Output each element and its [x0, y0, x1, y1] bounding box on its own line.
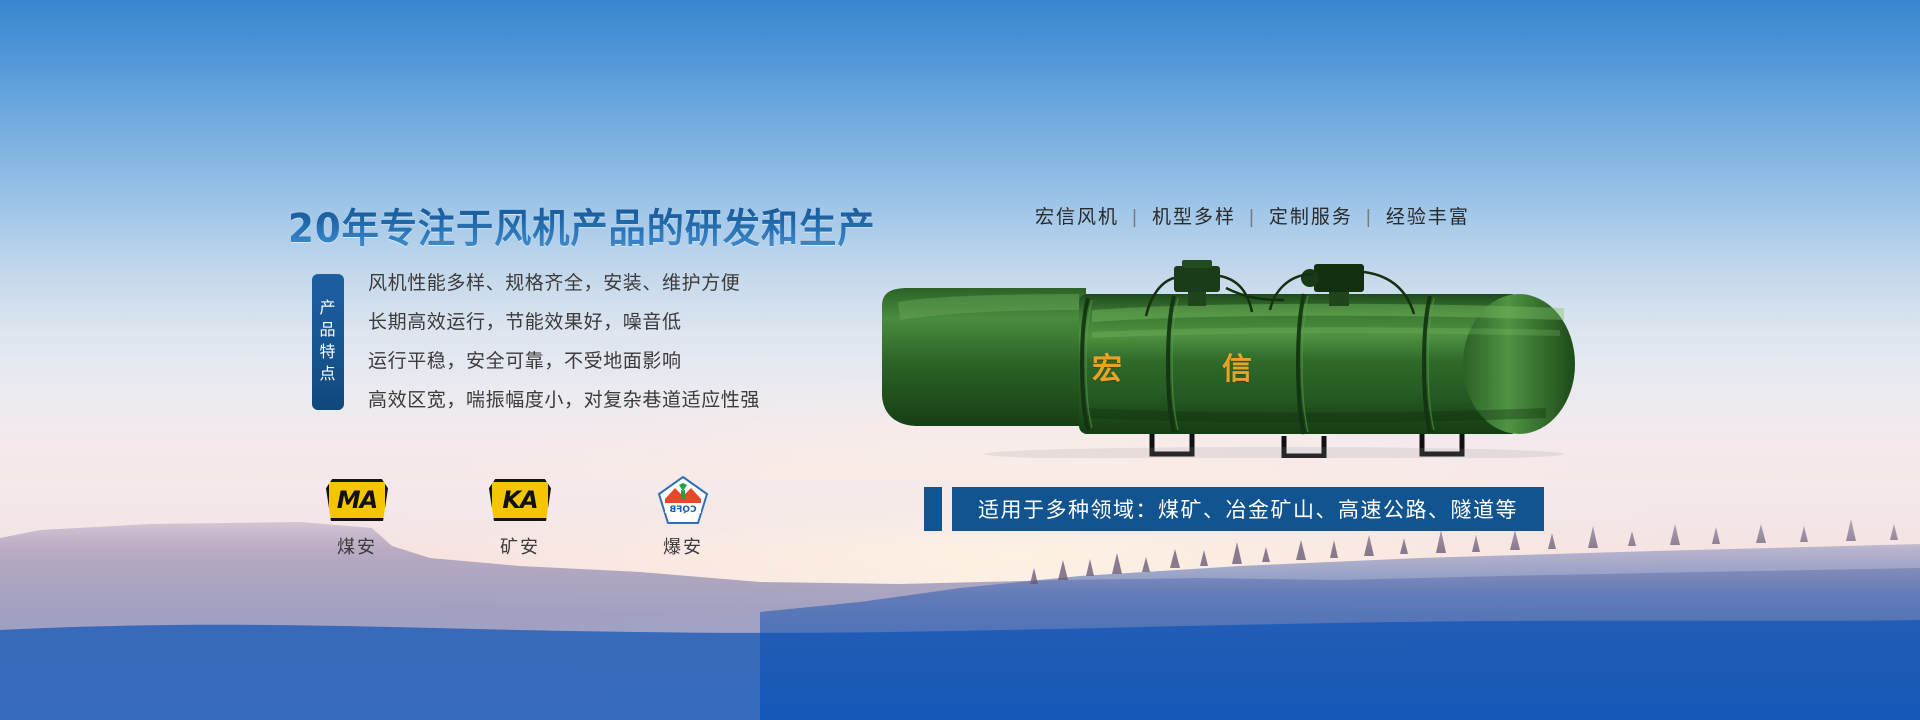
- certification-badges: MA 煤安 KA 矿安 CQFB 爆安: [318, 476, 722, 559]
- cqfb-pentagon-icon: CQFB: [658, 476, 708, 524]
- badge-mark-text: KA: [502, 488, 537, 512]
- feature-item: 风机性能多样、规格齐全，安装、维护方便: [368, 274, 760, 293]
- features-label: 产 品 特 点: [312, 274, 344, 410]
- feature-item: 高效区宽，喘振幅度小，对复杂巷道适应性强: [368, 391, 760, 410]
- tagline-item-1: 机型多样: [1152, 207, 1236, 228]
- ka-shield-icon: KA: [489, 476, 551, 524]
- badge-caption: 煤安: [337, 533, 377, 559]
- product-brand-char-left: 宏: [1092, 344, 1124, 388]
- badge-caption: 爆安: [663, 533, 703, 559]
- product-brand-char-right: 信: [1222, 344, 1254, 388]
- product-image: 宏 信: [874, 258, 1634, 458]
- badge-mark-text: CQFB: [669, 505, 696, 515]
- badge-mark-text: MA: [337, 488, 377, 512]
- tagline-separator: |: [1236, 207, 1269, 228]
- application-banner: 适用于多种领域：煤矿、冶金矿山、高速公路、隧道等: [924, 487, 1544, 531]
- tagline-item-0: 宏信风机: [1035, 207, 1119, 228]
- features-label-char-1: 品: [319, 320, 336, 342]
- ma-shield-icon: MA: [326, 476, 388, 524]
- banner-gap: [942, 487, 952, 531]
- tagline-separator: |: [1353, 207, 1386, 228]
- features-label-char-2: 特: [319, 342, 336, 364]
- tagline-item-3: 经验丰富: [1386, 207, 1470, 228]
- hero-banner: 20年专注于风机产品的研发和生产 宏信风机|机型多样|定制服务|经验丰富 产 品…: [0, 0, 1920, 720]
- tagline-item-2: 定制服务: [1269, 207, 1353, 228]
- feature-item: 运行平稳，安全可靠，不受地面影响: [368, 352, 760, 371]
- badge-ma: MA 煤安: [318, 476, 396, 559]
- tagline: 宏信风机|机型多样|定制服务|经验丰富: [1035, 202, 1470, 229]
- banner-text: 适用于多种领域：煤矿、冶金矿山、高速公路、隧道等: [952, 487, 1544, 531]
- tagline-separator: |: [1119, 207, 1152, 228]
- page-title: 20年专注于风机产品的研发和生产: [288, 196, 875, 254]
- features-label-char-0: 产: [319, 298, 336, 320]
- product-features: 产 品 特 点 风机性能多样、规格齐全，安装、维护方便 长期高效运行，节能效果好…: [312, 274, 760, 410]
- banner-accent-block: [924, 487, 942, 531]
- badge-caption: 矿安: [500, 533, 540, 559]
- badge-cqfb: CQFB 爆安: [644, 476, 722, 559]
- features-label-char-3: 点: [319, 364, 336, 386]
- badge-ka: KA 矿安: [481, 476, 559, 559]
- feature-item: 长期高效运行，节能效果好，噪音低: [368, 313, 760, 332]
- features-list: 风机性能多样、规格齐全，安装、维护方便 长期高效运行，节能效果好，噪音低 运行平…: [368, 274, 760, 410]
